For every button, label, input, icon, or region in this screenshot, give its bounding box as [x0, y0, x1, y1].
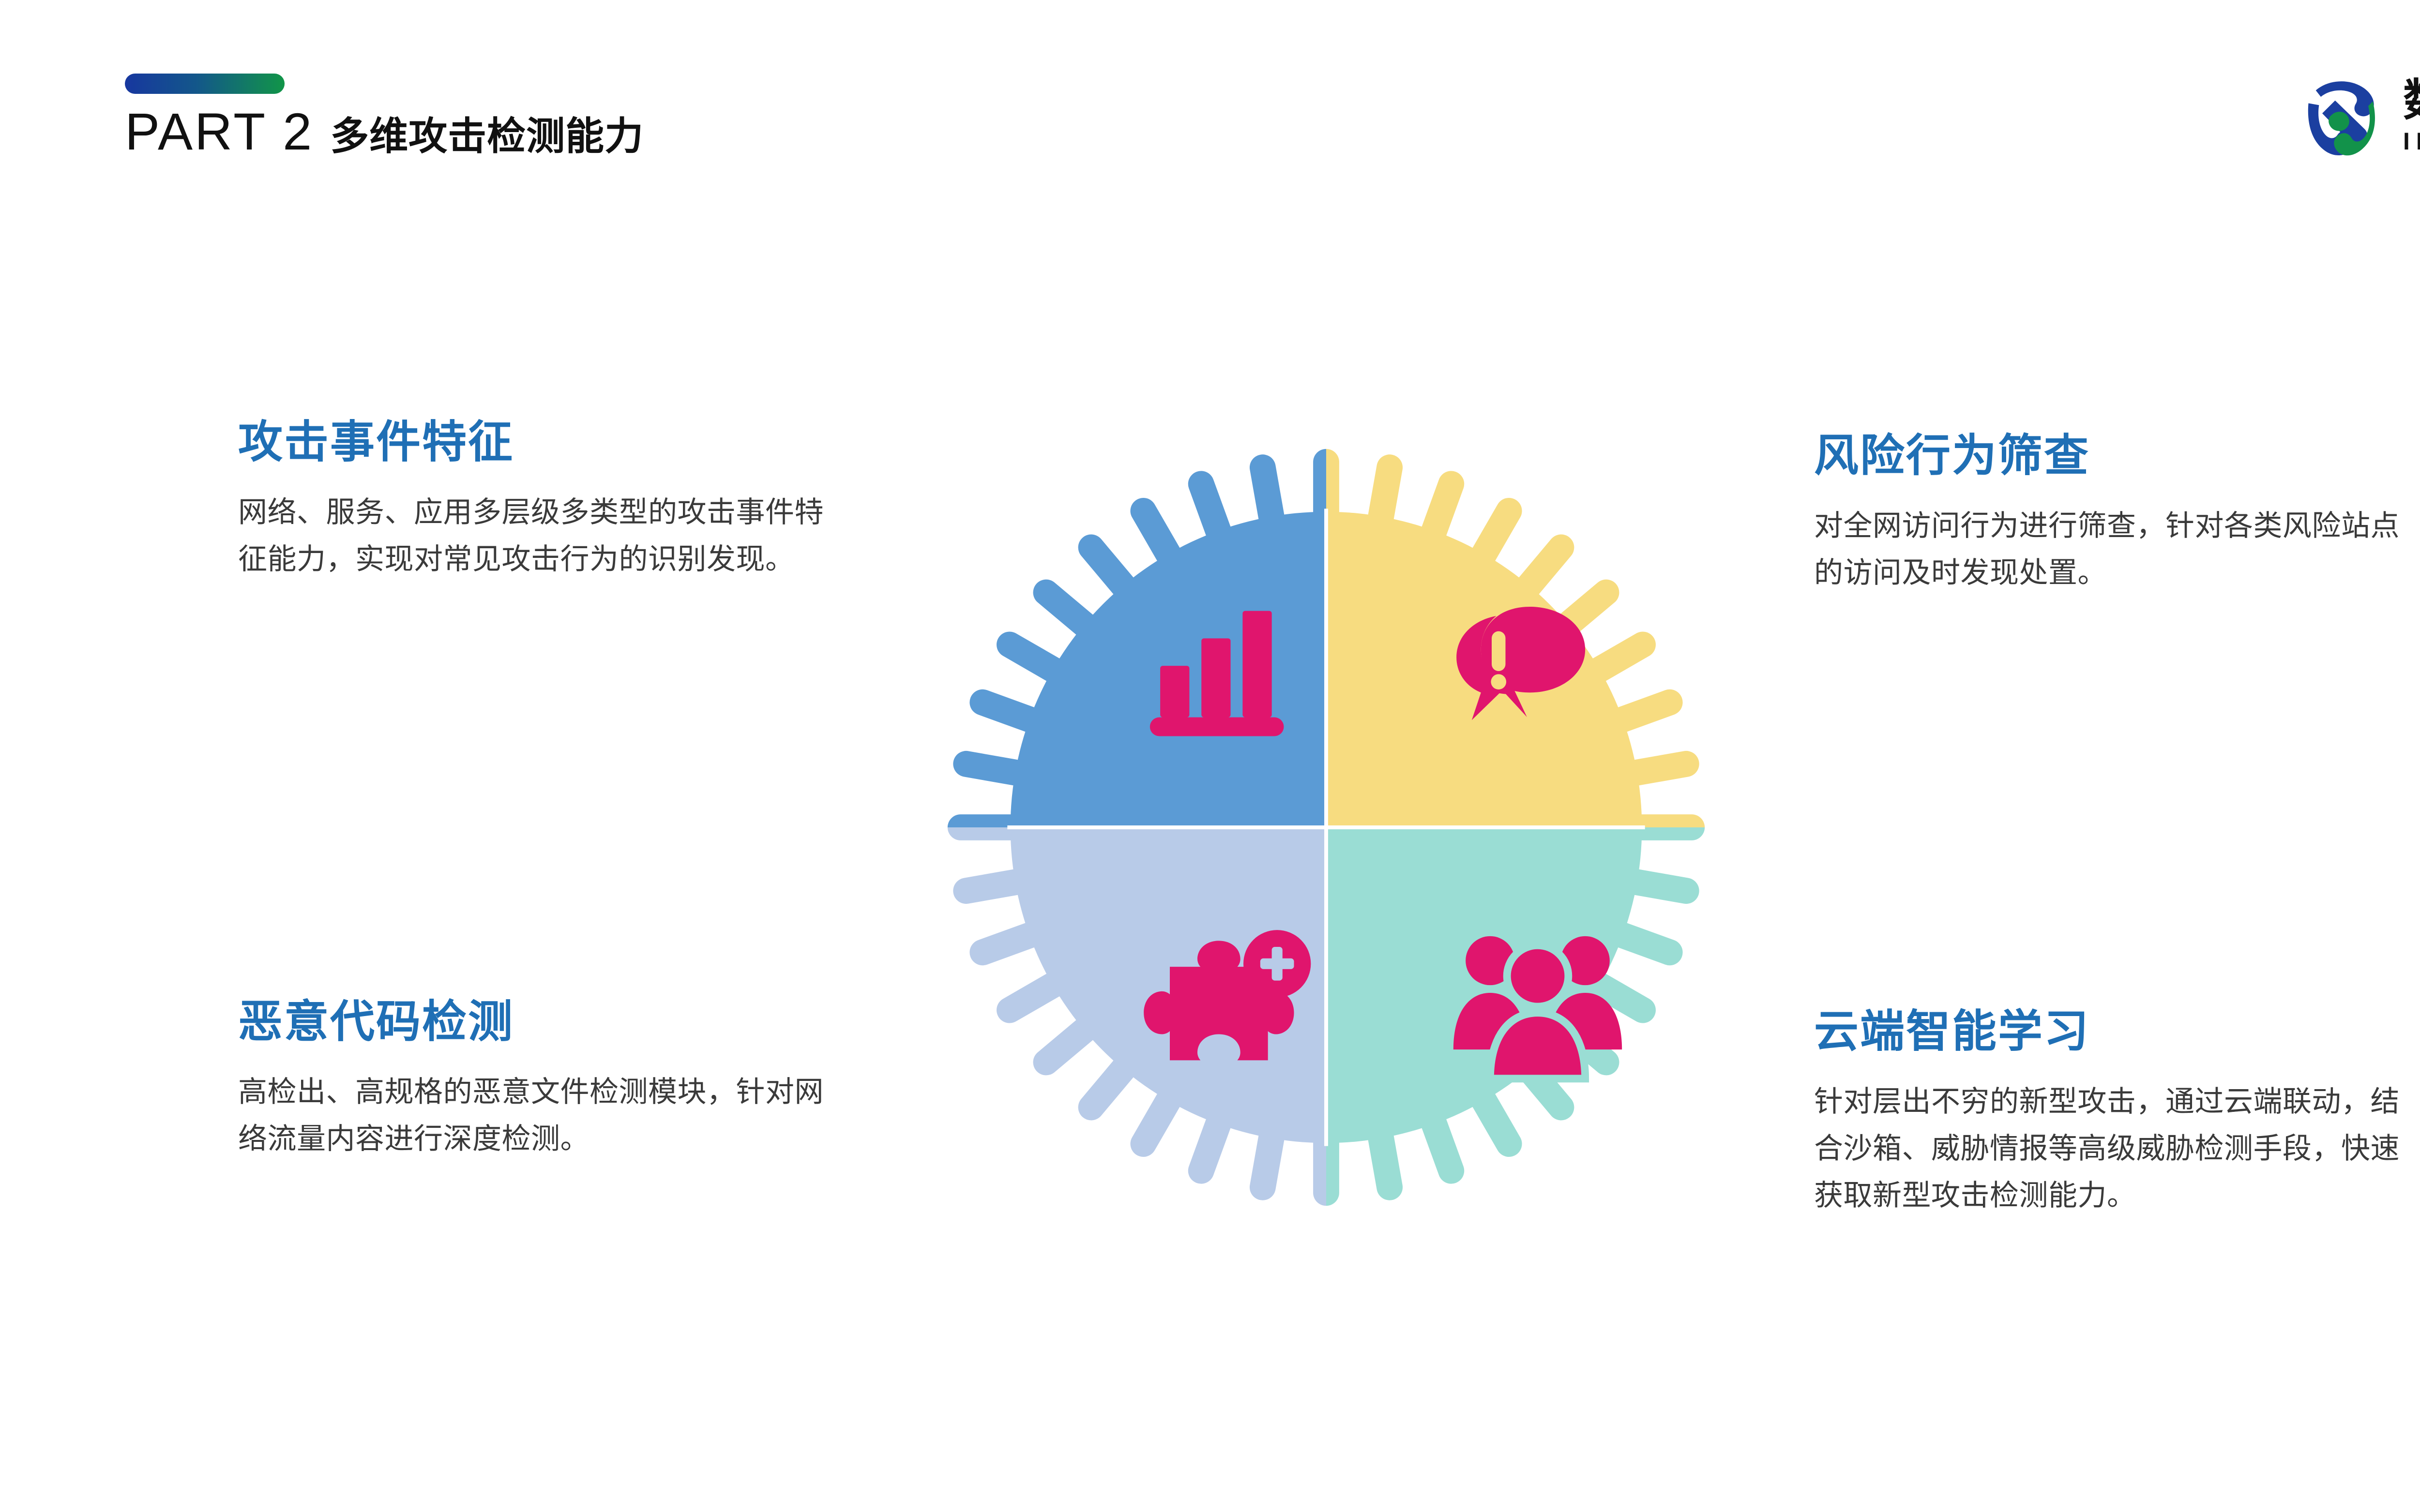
slide: PART 2 多维攻击检测能力 数信安全 ID SEC 攻击事件特征 网络、服务…: [0, 0, 2420, 1512]
feature-body-risk-behavior: 对全网访问行为进行筛查，针对各类风险站点的访问及时发现处置。: [1814, 502, 2419, 596]
feature-heading-risk-behavior: 风险行为筛查: [1814, 431, 2419, 482]
feature-heading-malware-detection: 恶意代码检测: [238, 997, 833, 1048]
part-subtitle: 多维攻击检测能力: [330, 117, 644, 156]
feature-heading-cloud-learning: 云端智能学习: [1814, 1006, 2419, 1058]
shield-swirl-icon: [2295, 70, 2387, 162]
feature-block-malware-detection: 恶意代码检测 高检出、高规格的恶意文件检测模块，针对网络流量内容进行深度检测。: [238, 997, 833, 1162]
quadrant-gear-diagram: [866, 368, 1786, 1287]
feature-block-cloud-learning: 云端智能学习 针对层出不穷的新型攻击，通过云端联动，结合沙箱、威胁情报等高级威胁…: [1814, 1006, 2419, 1219]
feature-block-attack-event: 攻击事件特征 网络、服务、应用多层级多类型的攻击事件特征能力，实现对常见攻击行为…: [238, 417, 833, 583]
header-accent-bar: [125, 74, 285, 94]
feature-block-risk-behavior: 风险行为筛查 对全网访问行为进行筛查，针对各类风险站点的访问及时发现处置。: [1814, 431, 2419, 596]
logo-name-cn: 数信安全: [2403, 77, 2420, 124]
logo-name-en: ID SEC: [2403, 128, 2420, 155]
gear-svg: [866, 368, 1786, 1287]
feature-heading-attack-event: 攻击事件特征: [238, 417, 833, 468]
feature-body-cloud-learning: 针对层出不穷的新型攻击，通过云端联动，结合沙箱、威胁情报等高级威胁检测手段，快速…: [1814, 1078, 2419, 1219]
brand-logo: 数信安全 ID SEC: [2295, 68, 2420, 165]
feature-body-malware-detection: 高检出、高规格的恶意文件检测模块，针对网络流量内容进行深度检测。: [238, 1068, 833, 1162]
page-title: PART 2 多维攻击检测能力: [125, 105, 644, 158]
logo-text: 数信安全 ID SEC: [2403, 77, 2420, 155]
feature-body-attack-event: 网络、服务、应用多层级多类型的攻击事件特征能力，实现对常见攻击行为的识别发现。: [238, 489, 833, 583]
part-label: PART 2: [125, 105, 314, 158]
